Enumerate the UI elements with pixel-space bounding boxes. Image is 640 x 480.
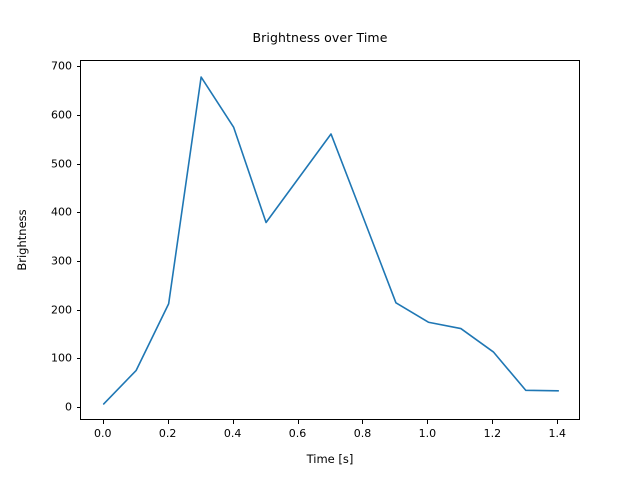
y-tick-label: 300 <box>12 254 72 267</box>
y-tick-label: 200 <box>12 303 72 316</box>
y-tick-label: 400 <box>12 206 72 219</box>
x-tick-label: 0.2 <box>138 427 198 440</box>
x-tick-label: 0.4 <box>203 427 263 440</box>
x-tick-label: 0.0 <box>73 427 133 440</box>
x-tick-label: 1.0 <box>397 427 457 440</box>
chart-title: Brightness over Time <box>0 30 640 45</box>
y-tick-label: 100 <box>12 352 72 365</box>
figure-canvas: Brightness over Time Brightness Time [s]… <box>0 0 640 480</box>
y-tick-label: 700 <box>12 60 72 73</box>
x-tick-label: 0.6 <box>268 427 328 440</box>
x-tick-label: 1.4 <box>527 427 587 440</box>
plot-area <box>80 60 580 420</box>
x-tick-label: 1.2 <box>462 427 522 440</box>
data-series-brightness <box>81 61 581 421</box>
x-tick-label: 0.8 <box>332 427 392 440</box>
y-tick-label: 500 <box>12 157 72 170</box>
y-tick-label: 600 <box>12 108 72 121</box>
x-axis-label: Time [s] <box>80 452 580 466</box>
line-path-brightness <box>104 77 559 404</box>
y-tick-label: 0 <box>12 400 72 413</box>
